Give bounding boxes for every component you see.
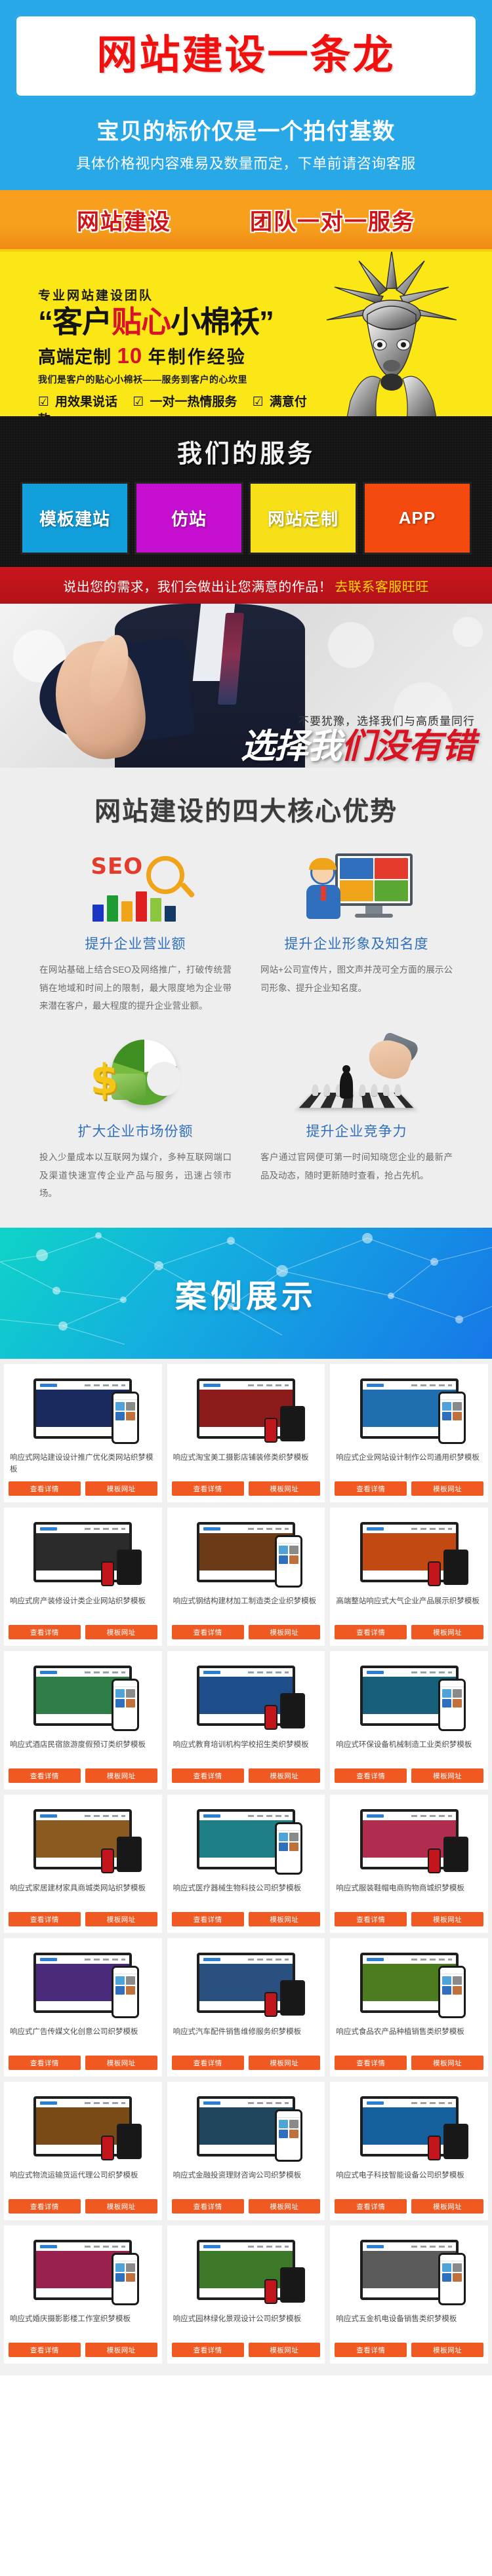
case-thumbnail [9, 1369, 157, 1448]
browser-bar [36, 1955, 129, 1964]
tablet-mockup [117, 1550, 142, 1585]
browser-bar [363, 1955, 456, 1964]
monitor-person-icon [301, 849, 413, 923]
cases-grid: 响应式网站建设设计推广优化类网站织梦模板查看详情模板网址响应式淘宝美工摄影店铺装… [4, 1364, 488, 2364]
case-card[interactable]: 响应式金融投资理财咨询公司织梦模板查看详情模板网址 [167, 2082, 325, 2220]
case-thumbnail [172, 1800, 321, 1879]
page-root: 网站建设一条龙 宝贝的标价仅是一个拍付基数 具体价格视内容难易及数量而定，下单前… [0, 0, 492, 2375]
case-thumbnail [172, 1656, 321, 1735]
phone-statusbar [113, 1394, 137, 1400]
tablet-mockup [117, 1837, 142, 1872]
device-mockup-group [17, 1372, 148, 1445]
smartphone-mockup [264, 1418, 277, 1443]
device-mockup-group [17, 2090, 148, 2163]
device-mockup-group [180, 1515, 312, 1589]
years-number: 10 [117, 343, 143, 368]
case-title: 响应式淘宝美工摄影店铺装修类织梦模板 [173, 1453, 319, 1476]
device-mockup-group [180, 1803, 312, 1876]
case-thumbnail [172, 1943, 321, 2022]
case-button-row: 查看详情模板网址 [335, 2056, 483, 2070]
advantage-card-competitive: 提升企业竞争力 客户通过官网便可第一时间知晓您企业的最新产品及动态，随时更新随时… [246, 1035, 467, 1203]
case-button-row: 查看详情模板网址 [335, 1912, 483, 1926]
service-button-app[interactable]: APP [365, 484, 470, 553]
case-url-button[interactable]: 模板网址 [411, 1912, 483, 1926]
advantage-card-revenue: SEO 提升企业营业额 在网站基础上结合SEO及网络推广，打破传统营销 [25, 848, 246, 1015]
cases-title: 案例展示 [175, 1270, 317, 1316]
site-footer-strip [199, 2288, 293, 2297]
advantage-body-competitive: 客户通过官网便可第一时间知晓您企业的最新产品及动态，随时更新随时查看，抢占先机。 [256, 1148, 457, 1184]
phone-mockup [112, 2253, 139, 2305]
case-title: 响应式教育培训机构学校招生类织梦模板 [173, 1740, 319, 1763]
tablet-mockup [443, 2124, 468, 2159]
case-button-row: 查看详情模板网址 [172, 1625, 321, 1639]
person-tie [321, 886, 326, 901]
phone-mockup [275, 1535, 302, 1588]
site-footer-strip [36, 1858, 129, 1867]
case-url-button[interactable]: 模板网址 [85, 1481, 157, 1496]
case-detail-button[interactable]: 查看详情 [172, 2343, 244, 2357]
case-button-row: 查看详情模板网址 [9, 2056, 157, 2070]
case-thumbnail [335, 2087, 483, 2166]
advantage-body-revenue: 在网站基础上结合SEO及网络推广，打破传统营销在地域和时间上的限制，最大限度地为… [35, 961, 236, 1015]
case-detail-button[interactable]: 查看详情 [9, 2199, 81, 2214]
case-button-row: 查看详情模板网址 [9, 2343, 157, 2357]
check-mark-icon: ☑ [133, 395, 144, 409]
browser-bar [363, 1812, 456, 1820]
case-thumbnail [9, 1513, 157, 1591]
case-title: 响应式广告传媒文化创意公司织梦模板 [10, 2027, 156, 2050]
case-title: 响应式网站建设设计推广优化类网站织梦模板 [10, 1453, 156, 1476]
monitor-base [355, 914, 393, 918]
case-url-button[interactable]: 模板网址 [249, 2343, 321, 2357]
advantage-icon-wrap [256, 1035, 457, 1110]
hero-handshake-banner: 不要犹豫，选择我们与高质量同行 选择我们没有错 [0, 604, 492, 768]
service-label-custom: 网站定制 [268, 506, 338, 530]
case-url-button[interactable]: 模板网址 [249, 2056, 321, 2070]
browser-bar [363, 2099, 456, 2107]
advantage-heading-image: 提升企业形象及知名度 [256, 933, 457, 953]
browser-bar [199, 1955, 293, 1964]
tablet-mockup [280, 1406, 305, 1441]
service-label-clone: 仿站 [171, 506, 207, 530]
monitor-stand [365, 906, 382, 914]
case-url-button[interactable]: 模板网址 [85, 1768, 157, 1783]
case-title: 响应式房产装修设计类企业网站织梦模板 [10, 1596, 156, 1620]
yellow-headline: “客户贴心小棉袄” [38, 306, 327, 339]
phone-statusbar [440, 1681, 464, 1687]
headline-part-2: 贴心 [112, 305, 171, 339]
phone-content-grid [113, 2261, 137, 2284]
browser-bar [199, 1525, 293, 1533]
case-detail-button[interactable]: 查看详情 [172, 2056, 244, 2070]
case-card[interactable]: 响应式服装鞋帽电商购物商城织梦模板查看详情模板网址 [330, 1795, 488, 1933]
case-card[interactable]: 响应式房产装修设计类企业网站织梦模板查看详情模板网址 [4, 1508, 162, 1646]
case-card[interactable]: 响应式物流运输货运代理公司织梦模板查看详情模板网址 [4, 2082, 162, 2220]
case-detail-button[interactable]: 查看详情 [335, 1481, 407, 1496]
chess-pawn-row [312, 1084, 401, 1096]
phone-statusbar [440, 2255, 464, 2261]
advantage-icon-wrap: SEO [35, 848, 236, 923]
device-mockup-group [180, 1372, 312, 1445]
advantage-card-market: $ 扩大企业市场份额 投入少量成本以互联网为媒介，多种互联网端口及渠道快速宣传企… [25, 1035, 246, 1203]
hero-big-red: 们没有错 [341, 728, 475, 766]
case-detail-button[interactable]: 查看详情 [335, 1912, 407, 1926]
device-mockup-group [180, 2090, 312, 2163]
device-mockup-group [17, 1515, 148, 1589]
case-card[interactable]: 响应式淘宝美工摄影店铺装修类织梦模板查看详情模板网址 [167, 1364, 325, 1502]
dollar-sign-icon: $ [91, 1059, 119, 1100]
case-title: 响应式园林绿化景观设计公司织梦模板 [173, 2314, 319, 2337]
case-button-row: 查看详情模板网址 [335, 1625, 483, 1639]
service-button-custom[interactable]: 网站定制 [251, 484, 356, 553]
tablet-mockup [280, 1693, 305, 1728]
service-button-clone[interactable]: 仿站 [136, 484, 241, 553]
yellow-check-list: ☑用效果说话 ☑一对一热情服务 ☑满意付款 [38, 392, 327, 416]
browser-bar [36, 2099, 129, 2107]
case-title: 响应式医疗器械生物科技公司织梦模板 [173, 1883, 319, 1907]
phone-content-grid [440, 1400, 464, 1422]
person-hair [309, 858, 337, 870]
case-card[interactable]: 响应式企业网站设计制作公司通用织梦模板查看详情模板网址 [330, 1364, 488, 1502]
pie-dollar-icon: $ [80, 1037, 192, 1110]
case-title: 响应式汽车配件销售维修服务织梦模板 [173, 2027, 319, 2050]
case-button-row: 查看详情模板网址 [335, 2343, 483, 2357]
device-mockup-group [344, 2090, 475, 2163]
case-thumbnail [9, 2087, 157, 2166]
phone-mockup [438, 1392, 466, 1444]
phone-mockup [112, 1679, 139, 1731]
phone-content-grid [277, 1544, 300, 1566]
case-detail-button[interactable]: 查看详情 [335, 1625, 407, 1639]
check-item-2: ☑一对一热情服务 [133, 395, 243, 409]
case-detail-button[interactable]: 查看详情 [9, 1625, 81, 1639]
case-url-button[interactable]: 模板网址 [411, 2199, 483, 2214]
phone-content-grid [277, 2118, 300, 2140]
cases-header-banner: 案例展示 [0, 1228, 492, 1359]
case-detail-button[interactable]: 查看详情 [172, 1912, 244, 1926]
case-detail-button[interactable]: 查看详情 [335, 2343, 407, 2357]
tablet-mockup [280, 2267, 305, 2303]
header-title-card: 网站建设一条龙 [14, 14, 478, 98]
case-url-button[interactable]: 模板网址 [249, 1625, 321, 1639]
case-card[interactable]: 响应式钢结构建材加工制造类企业织梦模板查看详情模板网址 [167, 1508, 325, 1646]
case-detail-button[interactable]: 查看详情 [9, 1912, 81, 1926]
page-title: 网站建设一条龙 [23, 33, 469, 76]
device-mockup-group [344, 2233, 475, 2307]
case-url-button[interactable]: 模板网址 [85, 1625, 157, 1639]
phone-content-grid [277, 1831, 300, 1853]
case-title: 响应式服装鞋帽电商购物商城织梦模板 [336, 1883, 482, 1907]
device-mockup-group [344, 1803, 475, 1876]
case-button-row: 查看详情模板网址 [172, 2343, 321, 2357]
header-banner: 网站建设一条龙 宝贝的标价仅是一个拍付基数 具体价格视内容难易及数量而定，下单前… [0, 0, 492, 190]
case-thumbnail [172, 2231, 321, 2309]
case-card[interactable]: 响应式广告传媒文化创意公司织梦模板查看详情模板网址 [4, 1938, 162, 2077]
smartphone-mockup [428, 2136, 441, 2160]
service-label-template: 模板建站 [39, 506, 110, 530]
case-button-row: 查看详情模板网址 [172, 1481, 321, 1496]
contact-service-link[interactable]: 去联系客服旺旺 [335, 576, 429, 595]
case-title: 响应式家居建材家具商城类网站织梦模板 [10, 1883, 156, 1907]
advantages-grid: SEO 提升企业营业额 在网站基础上结合SEO及网络推广，打破传统营销 [0, 848, 492, 1203]
tablet-mockup [443, 1837, 468, 1872]
phone-content-grid [113, 1687, 137, 1709]
hero-big-text: 选择我们没有错 [241, 730, 475, 764]
browser-bar [36, 2242, 129, 2251]
case-thumbnail [9, 2231, 157, 2309]
site-footer-strip [36, 2145, 129, 2154]
statue-of-liberty-icon [310, 249, 474, 416]
red-cta-bar: 说出您的需求，我们会做出让您满意的作品！ 去联系客服旺旺 [0, 567, 492, 604]
phone-content-grid [440, 2261, 464, 2284]
case-button-row: 查看详情模板网址 [9, 1912, 157, 1926]
case-title: 响应式食品农产品种植销售类织梦模板 [336, 2027, 482, 2050]
case-card[interactable]: 响应式环保设备机械制造工业类织梦模板查看详情模板网址 [330, 1651, 488, 1789]
phone-mockup [438, 1679, 466, 1731]
case-card[interactable]: 响应式汽车配件销售维修服务织梦模板查看详情模板网址 [167, 1938, 325, 2077]
phone-statusbar [440, 1394, 464, 1400]
tablet-mockup [280, 1980, 305, 2016]
site-footer-strip [363, 2145, 456, 2154]
phone-statusbar [277, 1824, 300, 1831]
phone-statusbar [277, 1537, 300, 1544]
case-detail-button[interactable]: 查看详情 [335, 2199, 407, 2214]
advantage-heading-market: 扩大企业市场份额 [35, 1121, 236, 1141]
case-title: 响应式企业网站设计制作公司通用织梦模板 [336, 1453, 482, 1476]
case-card[interactable]: 响应式家居建材家具商城类网站织梦模板查看详情模板网址 [4, 1795, 162, 1933]
cases-section: 响应式网站建设设计推广优化类网站织梦模板查看详情模板网址响应式淘宝美工摄影店铺装… [0, 1359, 492, 2375]
device-mockup-group [344, 1946, 475, 2020]
case-button-row: 查看详情模板网址 [335, 1481, 483, 1496]
case-thumbnail [335, 1513, 483, 1591]
phone-statusbar [113, 2255, 137, 2261]
case-url-button[interactable]: 模板网址 [249, 1912, 321, 1926]
case-detail-button[interactable]: 查看详情 [9, 2056, 81, 2070]
case-detail-button[interactable]: 查看详情 [172, 1481, 244, 1496]
browser-bar [199, 1668, 293, 1677]
case-url-button[interactable]: 模板网址 [411, 1481, 483, 1496]
device-mockup-group [17, 1803, 148, 1876]
site-footer-strip [363, 1858, 456, 1867]
phone-mockup [112, 1966, 139, 2018]
case-url-button[interactable]: 模板网址 [249, 1481, 321, 1496]
device-mockup-group [180, 2233, 312, 2307]
device-mockup-group [17, 2233, 148, 2307]
phone-mockup [438, 2253, 466, 2305]
chess-king-piece [340, 1071, 353, 1099]
case-thumbnail [9, 1656, 157, 1735]
case-thumbnail [172, 1513, 321, 1591]
case-detail-button[interactable]: 查看详情 [9, 1768, 81, 1783]
check-mark-icon: ☑ [38, 395, 49, 409]
advantage-heading-competitive: 提升企业竞争力 [256, 1121, 457, 1141]
case-title: 响应式五金机电设备销售类织梦模板 [336, 2314, 482, 2337]
phone-statusbar [277, 2111, 300, 2118]
case-card[interactable]: 响应式婚庆摄影影楼工作室织梦模板查看详情模板网址 [4, 2225, 162, 2364]
case-button-row: 查看详情模板网址 [172, 2199, 321, 2214]
browser-bar [36, 1668, 129, 1677]
site-footer-strip [36, 1571, 129, 1580]
bar-chart-icon [92, 891, 176, 922]
case-thumbnail [335, 1656, 483, 1735]
case-url-button[interactable]: 模板网址 [85, 1912, 157, 1926]
check-item-1: ☑用效果说话 [38, 395, 123, 409]
case-card[interactable]: 响应式食品农产品种植销售类织梦模板查看详情模板网址 [330, 1938, 488, 2077]
service-label-app: APP [399, 508, 436, 528]
case-detail-button[interactable]: 查看详情 [335, 2056, 407, 2070]
monitor-icon [335, 853, 413, 906]
smartphone-mockup [428, 1561, 441, 1586]
browser-bar [363, 1381, 456, 1390]
advantage-body-image: 网站+公司宣传片，图文声并茂可全方面的展示公司形象、提升企业知名度。 [256, 961, 457, 997]
check-label-1: 用效果说话 [55, 395, 117, 409]
orange-bar-left-label: 网站建设 [77, 204, 171, 236]
case-thumbnail [335, 1369, 483, 1448]
case-title: 响应式金融投资理财咨询公司织梦模板 [173, 2170, 319, 2194]
case-title: 响应式酒店民宿旅游度假预订类织梦模板 [10, 1740, 156, 1763]
browser-bar [199, 1381, 293, 1390]
red-cta-text: 说出您的需求，我们会做出让您满意的作品！ [63, 576, 332, 595]
case-thumbnail [335, 2231, 483, 2309]
advantage-body-market: 投入少量成本以互联网为媒介，多种互联网端口及渠道快速宣传企业产品与服务，迅速占领… [35, 1148, 236, 1203]
case-card[interactable]: 响应式园林绿化景观设计公司织梦模板查看详情模板网址 [167, 2225, 325, 2364]
phone-content-grid [113, 1974, 137, 1997]
custom-label: 高端定制 [38, 347, 112, 367]
hero-big-white: 选择我 [241, 728, 341, 766]
advantage-icon-wrap [256, 848, 457, 923]
case-title: 响应式婚庆摄影影楼工作室织梦模板 [10, 2314, 156, 2337]
smartphone-mockup [428, 1848, 441, 1873]
services-title: 我们的服务 [0, 433, 492, 469]
case-title: 高端整站响应式大气企业产品展示织梦模板 [336, 1596, 482, 1620]
browser-bar [199, 2242, 293, 2251]
yellow-promo-text: 专业网站建设团队 “客户贴心小棉袄” 高端定制 10 年制作经验 我们是客户的贴… [38, 286, 327, 416]
yellow-promo-section: 专业网站建设团队 “客户贴心小棉袄” 高端定制 10 年制作经验 我们是客户的贴… [0, 249, 492, 416]
device-mockup-group [344, 1515, 475, 1589]
case-card[interactable]: 响应式电子科技智能设备公司织梦模板查看详情模板网址 [330, 2082, 488, 2220]
case-thumbnail [172, 2087, 321, 2166]
services-section: 我们的服务 模板建站 仿站 网站定制 APP [0, 416, 492, 567]
case-button-row: 查看详情模板网址 [9, 1481, 157, 1496]
case-detail-button[interactable]: 查看详情 [172, 1625, 244, 1639]
advantage-card-image: 提升企业形象及知名度 网站+公司宣传片，图文声并茂可全方面的展示公司形象、提升企… [246, 848, 467, 1015]
case-title: 响应式环保设备机械制造工业类织梦模板 [336, 1740, 482, 1763]
site-footer-strip [199, 2001, 293, 2010]
tablet-mockup [443, 1550, 468, 1585]
case-title: 响应式电子科技智能设备公司织梦模板 [336, 2170, 482, 2194]
case-button-row: 查看详情模板网址 [335, 2199, 483, 2214]
case-button-row: 查看详情模板网址 [9, 2199, 157, 2214]
case-url-button[interactable]: 模板网址 [411, 1625, 483, 1639]
phone-content-grid [440, 1974, 464, 1997]
browser-bar [36, 1381, 129, 1390]
seo-chart-icon: SEO [83, 849, 188, 923]
case-detail-button[interactable]: 查看详情 [9, 1481, 81, 1496]
smartphone-mockup [101, 1848, 114, 1873]
case-url-button[interactable]: 模板网址 [411, 2343, 483, 2357]
phone-mockup [275, 2109, 302, 2162]
case-title: 响应式钢结构建材加工制造类企业织梦模板 [173, 1596, 319, 1620]
advantages-title: 网站建设的四大核心优势 [0, 790, 492, 828]
device-mockup-group [180, 1946, 312, 2020]
case-card[interactable]: 响应式网站建设设计推广优化类网站织梦模板查看详情模板网址 [4, 1364, 162, 1502]
device-mockup-group [17, 1659, 148, 1732]
case-card[interactable]: 响应式五金机电设备销售类织梦模板查看详情模板网址 [330, 2225, 488, 2364]
case-url-button[interactable]: 模板网址 [411, 1768, 483, 1783]
orange-bar-right-label: 团队一对一服务 [250, 204, 415, 236]
site-footer-strip [199, 1714, 293, 1723]
yellow-tagline: 我们是客户的贴心小棉袄——服务到客户的心坎里 [38, 373, 327, 386]
case-card[interactable]: 高端整站响应式大气企业产品展示织梦模板查看详情模板网址 [330, 1508, 488, 1646]
tablet-mockup [117, 2124, 142, 2159]
case-detail-button[interactable]: 查看详情 [172, 2199, 244, 2214]
case-button-row: 查看详情模板网址 [172, 1768, 321, 1783]
case-url-button[interactable]: 模板网址 [411, 2056, 483, 2070]
case-card[interactable]: 响应式医疗器械生物科技公司织梦模板查看详情模板网址 [167, 1795, 325, 1933]
hero-text-block: 不要犹豫，选择我们与高质量同行 选择我们没有错 [241, 712, 475, 764]
browser-bar [199, 2099, 293, 2107]
case-url-button[interactable]: 模板网址 [85, 2343, 157, 2357]
site-footer-strip [199, 1427, 293, 1436]
case-button-row: 查看详情模板网址 [172, 1912, 321, 1926]
headline-part-3: 小棉袄” [171, 305, 274, 339]
advantage-heading-revenue: 提升企业营业额 [35, 933, 236, 953]
smartphone-mockup [264, 2279, 277, 2304]
case-thumbnail [172, 1369, 321, 1448]
case-card[interactable]: 响应式教育培训机构学校招生类织梦模板查看详情模板网址 [167, 1651, 325, 1789]
phone-content-grid [440, 1687, 464, 1709]
years-label: 年制作经验 [148, 347, 247, 367]
smartphone-mockup [101, 2136, 114, 2160]
phone-statusbar [440, 1968, 464, 1974]
yellow-custom-line: 高端定制 10 年制作经验 [38, 343, 327, 368]
check-label-2: 一对一热情服务 [150, 395, 237, 409]
case-title: 响应式物流运输货运代理公司织梦模板 [10, 2170, 156, 2194]
yellow-eyebrow: 专业网站建设团队 [38, 286, 327, 303]
chess-strategy-icon [298, 1037, 416, 1110]
case-detail-button[interactable]: 查看详情 [9, 2343, 81, 2357]
browser-bar [363, 1525, 456, 1533]
case-detail-button[interactable]: 查看详情 [335, 1768, 407, 1783]
device-mockup-group [344, 1372, 475, 1445]
case-thumbnail [9, 1943, 157, 2022]
phone-mockup [275, 1822, 302, 1875]
case-url-button[interactable]: 模板网址 [249, 1768, 321, 1783]
smartphone-mockup [101, 1561, 114, 1586]
case-card[interactable]: 响应式酒店民宿旅游度假预订类织梦模板查看详情模板网址 [4, 1651, 162, 1789]
case-url-button[interactable]: 模板网址 [249, 2199, 321, 2214]
case-button-row: 查看详情模板网址 [9, 1625, 157, 1639]
phone-statusbar [113, 1681, 137, 1687]
service-button-template[interactable]: 模板建站 [22, 484, 127, 553]
browser-bar [36, 1525, 129, 1533]
case-thumbnail [9, 1800, 157, 1879]
hero-small-text: 不要犹豫，选择我们与高质量同行 [241, 712, 475, 728]
phone-mockup [112, 1392, 139, 1444]
case-thumbnail [335, 1800, 483, 1879]
case-detail-button[interactable]: 查看详情 [172, 1768, 244, 1783]
orange-highlight-bar: 网站建设 团队一对一服务 [0, 190, 492, 249]
phone-content-grid [113, 1400, 137, 1422]
case-url-button[interactable]: 模板网址 [85, 2056, 157, 2070]
case-button-row: 查看详情模板网址 [335, 1768, 483, 1783]
device-mockup-group [344, 1659, 475, 1732]
magnifier-icon [146, 856, 184, 894]
browser-bar [363, 1668, 456, 1677]
case-url-button[interactable]: 模板网址 [85, 2199, 157, 2214]
person-icon [302, 860, 344, 922]
smartphone-mockup [264, 1705, 277, 1730]
